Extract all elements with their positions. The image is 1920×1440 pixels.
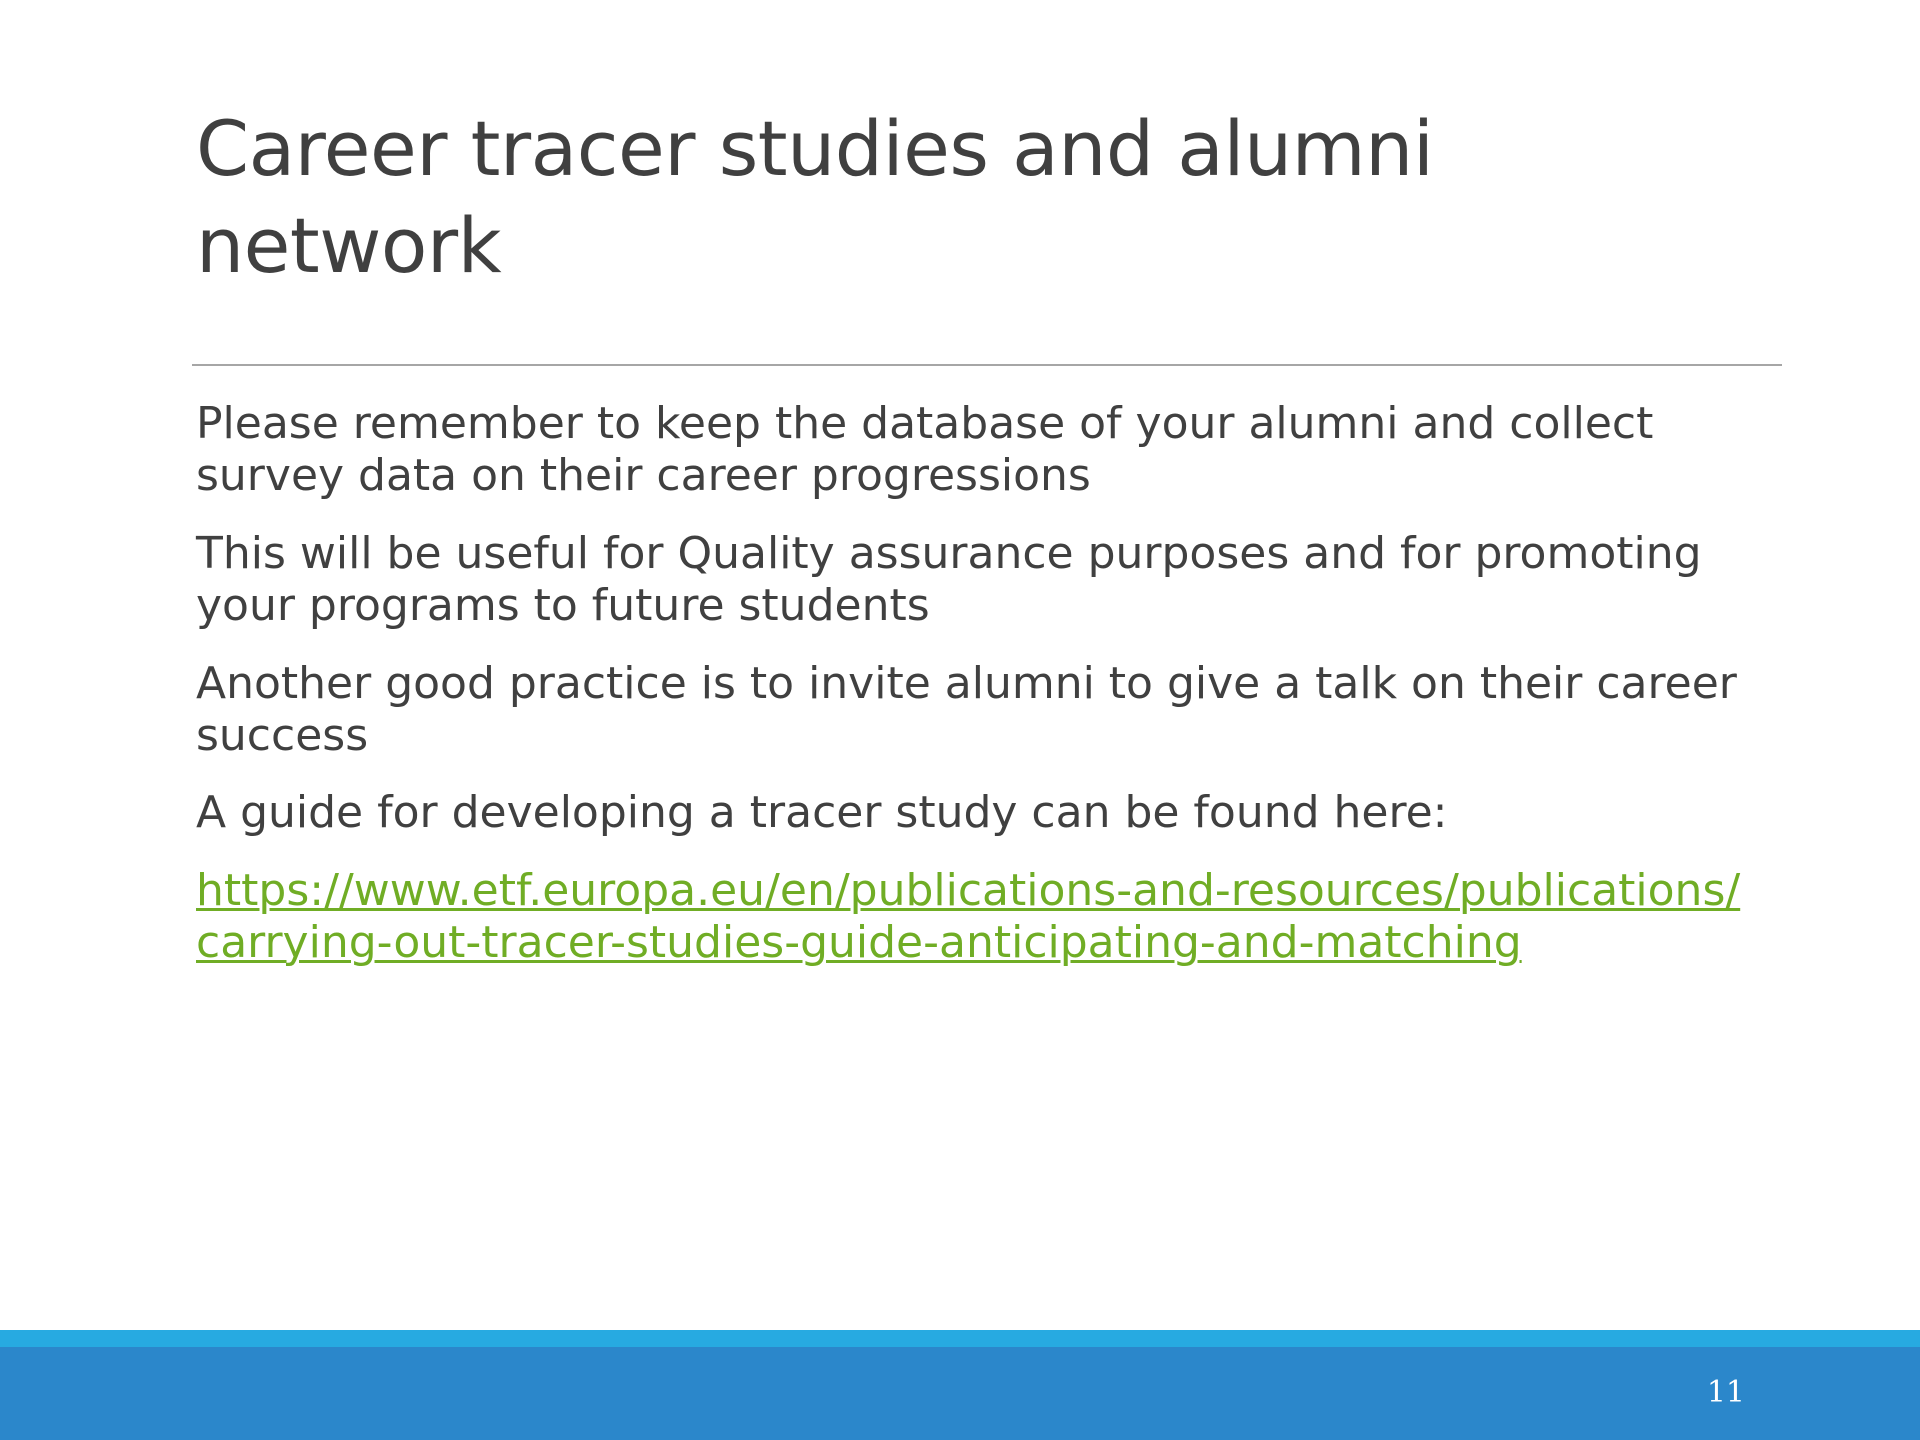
slide: Career tracer studies and alumni network… [0, 0, 1920, 1440]
link-paragraph: https://www.etf.europa.eu/en/publication… [196, 865, 1756, 969]
footer-accent-band [0, 1330, 1920, 1347]
title-divider [192, 364, 1782, 366]
body-content: Please remember to keep the database of … [196, 398, 1756, 969]
title-block: Career tracer studies and alumni network [196, 100, 1736, 295]
tracer-study-guide-link[interactable]: https://www.etf.europa.eu/en/publication… [196, 865, 1740, 968]
body-paragraph-4: A guide for developing a tracer study ca… [196, 787, 1756, 839]
body-paragraph-2: This will be useful for Quality assuranc… [196, 528, 1756, 632]
page-title: Career tracer studies and alumni network [196, 100, 1736, 295]
footer-band [0, 1347, 1920, 1440]
body-paragraph-1: Please remember to keep the database of … [196, 398, 1756, 502]
body-paragraph-3: Another good practice is to invite alumn… [196, 658, 1756, 762]
page-number: 11 [1707, 1378, 1745, 1408]
